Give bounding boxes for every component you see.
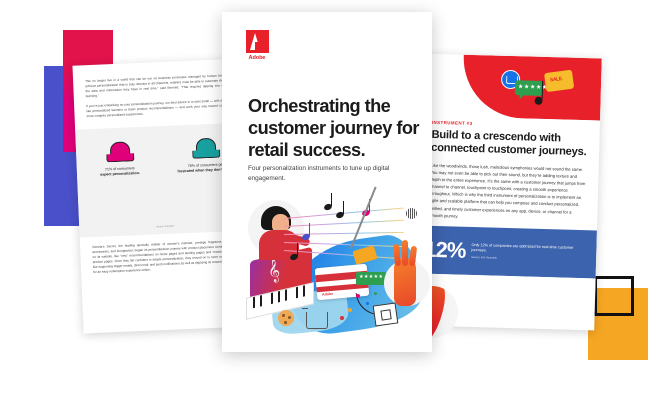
left-advice-paragraph: If you’re just embarking on your persona… bbox=[86, 98, 234, 119]
consumer-avatar-teal-icon bbox=[192, 136, 219, 159]
left-quote-paragraph: “We no longer live in a world that can b… bbox=[85, 73, 234, 99]
confetti-dot bbox=[356, 294, 360, 298]
confetti-dot bbox=[374, 292, 377, 295]
stat-bold: expect personalization. bbox=[100, 171, 140, 177]
tag-label: SALE bbox=[550, 76, 563, 84]
left-page-text-block: “We no longer live in a world that can b… bbox=[72, 59, 246, 120]
confetti-dot bbox=[348, 308, 352, 312]
stat-description: Only 12% of companies are optimized for … bbox=[471, 243, 588, 258]
stat-text: 71% of consumers expect personalization. bbox=[78, 165, 161, 179]
right-page-banner: ★★★★★ SALE bbox=[422, 54, 602, 121]
cookie-icon bbox=[278, 310, 294, 326]
price-tag-icon: SALE bbox=[544, 70, 574, 92]
consumer-avatar-pink-icon bbox=[106, 139, 133, 162]
page-title: Orchestrating the customer journey for r… bbox=[248, 96, 423, 162]
stat-plain: of consumers bbox=[113, 166, 135, 171]
stat-value: 71% bbox=[105, 167, 112, 171]
adobe-wordmark: Adobe bbox=[242, 55, 272, 61]
confetti-dot bbox=[340, 316, 344, 320]
cover-document-page[interactable]: Adobe Orchestrating the customer journey… bbox=[222, 12, 432, 352]
review-stars: ★★★★★ bbox=[518, 84, 548, 91]
conductor-hand-icon bbox=[388, 242, 426, 312]
composition-canvas: “We no longer live in a world that can b… bbox=[0, 0, 667, 401]
adobe-logo: Adobe bbox=[242, 30, 272, 61]
right-page-paragraph: Like the woodwinds, those lush, melodiou… bbox=[429, 161, 587, 222]
right-page-body: INSTRUMENT #3 Build to a crescendo with … bbox=[419, 116, 600, 224]
page-subtitle: Four personalization instruments to tune… bbox=[248, 164, 408, 184]
globe-icon bbox=[406, 208, 417, 219]
five-star-review-icon: ★★★★★ bbox=[515, 80, 543, 96]
right-stat-callout: 12% Only 12% of companies are optimized … bbox=[416, 225, 597, 278]
adobe-a-icon bbox=[246, 30, 269, 53]
decor-square-outline bbox=[594, 276, 634, 316]
stat-value: 76% bbox=[188, 164, 195, 168]
right-page-heading: Build to a crescendo with connected cust… bbox=[431, 129, 588, 160]
card-brand-label: Adobe bbox=[322, 292, 333, 297]
confetti-dot bbox=[366, 302, 369, 305]
stat-source: Source: 451 Research bbox=[471, 256, 588, 262]
left-case-paragraph: Victoria’s Secret, the leading specialty… bbox=[92, 239, 241, 276]
review-bubble-icon: ★★★★★ bbox=[356, 272, 386, 285]
stat-item: 71% of consumers expect personalization. bbox=[77, 138, 161, 179]
cover-illustration: 𝄞 Adobe ★★★★★ bbox=[228, 198, 426, 348]
shopping-cart-icon bbox=[306, 312, 328, 329]
instrument-kicker: INSTRUMENT #3 bbox=[432, 120, 588, 129]
